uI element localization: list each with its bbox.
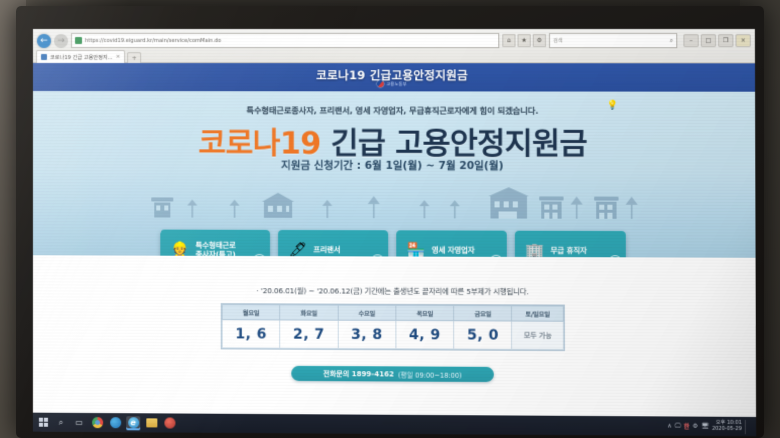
windows-start-icon[interactable] — [36, 415, 50, 429]
screenshot-root: SAMSUNG ← → https://covid19.eiguard.kr/m… — [0, 0, 780, 438]
phone-inquiry-bar[interactable]: 전화문의 1899-4162 (평일 09:00~18:00) — [291, 366, 494, 382]
card-label: 무급 휴직자 — [550, 246, 586, 255]
website-content: 코로나19 긴급고용안정지원금 고용노동부 특수형태근로종사자, 프리랜서, 영… — [33, 63, 756, 436]
hero-application-period: 지원금 신청기간 : 6월 1일(월) ~ 7월 20일(월) — [33, 157, 755, 174]
site-header: 코로나19 긴급고용안정지원금 고용노동부 — [33, 63, 755, 92]
magnifier-icon: ⌕ — [670, 37, 673, 45]
forward-arrow-icon[interactable]: → — [54, 34, 68, 48]
search-icon[interactable]: ⌕ — [54, 415, 68, 429]
table-header-cell: 토/일요일 — [512, 306, 563, 321]
table-cell: 3, 8 — [338, 320, 396, 348]
show-desktop-button[interactable] — [745, 419, 750, 433]
five-day-schedule-table: 월요일 화요일 수요일 목요일 금요일 토/일요일 1, 6 2 — [221, 303, 565, 351]
table-row: 1, 6 2, 7 3, 8 4, 9 5, 0 모두 가능 — [222, 320, 563, 350]
restore-button[interactable]: ❐ — [718, 34, 733, 47]
new-tab-button[interactable]: + — [127, 52, 141, 63]
search-placeholder: 검색 — [553, 37, 563, 44]
tab-favicon-icon — [41, 54, 47, 60]
internet-explorer-icon[interactable] — [126, 416, 140, 430]
maximize-button[interactable]: □ — [701, 34, 716, 47]
favorites-icon[interactable]: ★ — [518, 34, 531, 47]
hero-subtitle: 특수형태근로종사자, 프리랜서, 영세 자영업자, 무급휴직근로자에게 힘이 되… — [33, 104, 755, 117]
search-input[interactable]: 검색 ⌕ — [549, 33, 677, 48]
hero-banner: 특수형태근로종사자, 프리랜서, 영세 자영업자, 무급휴직근로자에게 힘이 되… — [33, 91, 756, 258]
tab-title: 코로나19 긴급 고용안정지... — [50, 54, 113, 61]
phone-hours: (평일 09:00~18:00) — [398, 369, 462, 379]
table-cell: 5, 0 — [454, 321, 512, 350]
table-header-cell: 목요일 — [396, 305, 454, 320]
home-icon[interactable]: ⌂ — [502, 34, 515, 47]
table-header-cell: 화요일 — [280, 305, 338, 320]
lightbulb-icon: 💡 — [607, 101, 618, 111]
table-cell: 4, 9 — [396, 320, 454, 349]
address-bar[interactable]: https://covid19.eiguard.kr/main/service/… — [71, 33, 499, 48]
settings-gear-icon[interactable]: ⚙ — [533, 34, 546, 47]
edge-icon[interactable] — [108, 416, 122, 430]
taskbar-spacer — [181, 423, 664, 426]
tab-close-icon[interactable]: × — [116, 54, 121, 60]
tray-expand-icon[interactable]: ∧ — [667, 423, 672, 430]
five-day-notice: · '20.06.01(월) ~ '20.06.12(금) 기간에는 출생년도 … — [33, 285, 756, 298]
clock-date: 2020-05-29 — [712, 426, 742, 432]
gov-logo-text: 고용노동부 — [386, 81, 407, 87]
network-icon[interactable]: 🖵 — [675, 422, 681, 430]
display-icon[interactable]: 🖥 — [701, 423, 709, 430]
back-arrow-icon[interactable]: ← — [37, 34, 51, 48]
phone-label: 전화문의 1899-4162 — [323, 369, 394, 379]
table-cell: 1, 6 — [222, 320, 280, 348]
table-header-row: 월요일 화요일 수요일 목요일 금요일 토/일요일 — [222, 305, 563, 322]
ime-indicator[interactable]: 한 — [684, 422, 690, 431]
close-button[interactable]: × — [735, 34, 750, 47]
browser-tab-row: 코로나19 긴급 고용안정지... × + — [33, 50, 755, 63]
card-label: 프리랜서 — [313, 246, 340, 255]
taskbar-clock[interactable]: 오후 10:01 2020-05-29 — [712, 421, 742, 432]
gov-logo: 고용노동부 — [33, 80, 755, 88]
card-label: 영세 자영업자 — [432, 246, 475, 255]
table-header-cell: 월요일 — [222, 305, 280, 320]
tray-settings-icon[interactable]: ⚙ — [693, 423, 699, 430]
lower-section: · '20.06.01(월) ~ '20.06.12(금) 기간에는 출생년도 … — [33, 255, 756, 436]
monitor-screen: ← → https://covid19.eiguard.kr/main/serv… — [33, 29, 756, 436]
chrome-icon[interactable] — [90, 415, 104, 429]
card-label-line1: 특수형태근로 — [195, 240, 235, 249]
table-cell: 2, 7 — [280, 320, 338, 348]
window-controls: – □ ❐ × — [680, 34, 751, 47]
media-app-icon[interactable] — [162, 416, 176, 430]
browser-nav-row: ← → https://covid19.eiguard.kr/main/serv… — [33, 29, 755, 50]
table-header-cell: 금요일 — [454, 306, 512, 321]
table-header-cell: 수요일 — [338, 305, 396, 320]
browser-tab[interactable]: 코로나19 긴급 고용안정지... × — [36, 50, 125, 63]
lock-icon — [75, 37, 82, 44]
browser-mini-tools: ⌂ ★ ⚙ — [502, 34, 546, 47]
browser-chrome: ← → https://covid19.eiguard.kr/main/serv… — [33, 29, 755, 63]
cityscape-illustration — [33, 181, 755, 223]
system-tray: ∧ 🖵 한 ⚙ 🖥 오후 10:01 2020-05-29 — [667, 419, 753, 434]
table-cell: 모두 가능 — [512, 321, 563, 350]
taegeuk-icon — [377, 80, 384, 87]
folder-icon[interactable] — [144, 416, 158, 430]
minimize-button[interactable]: – — [683, 34, 698, 47]
address-bar-url: https://covid19.eiguard.kr/main/service/… — [85, 38, 221, 44]
task-view-icon[interactable]: ▭ — [72, 415, 86, 429]
hero-title-highlight: 코로나19 — [198, 126, 320, 161]
